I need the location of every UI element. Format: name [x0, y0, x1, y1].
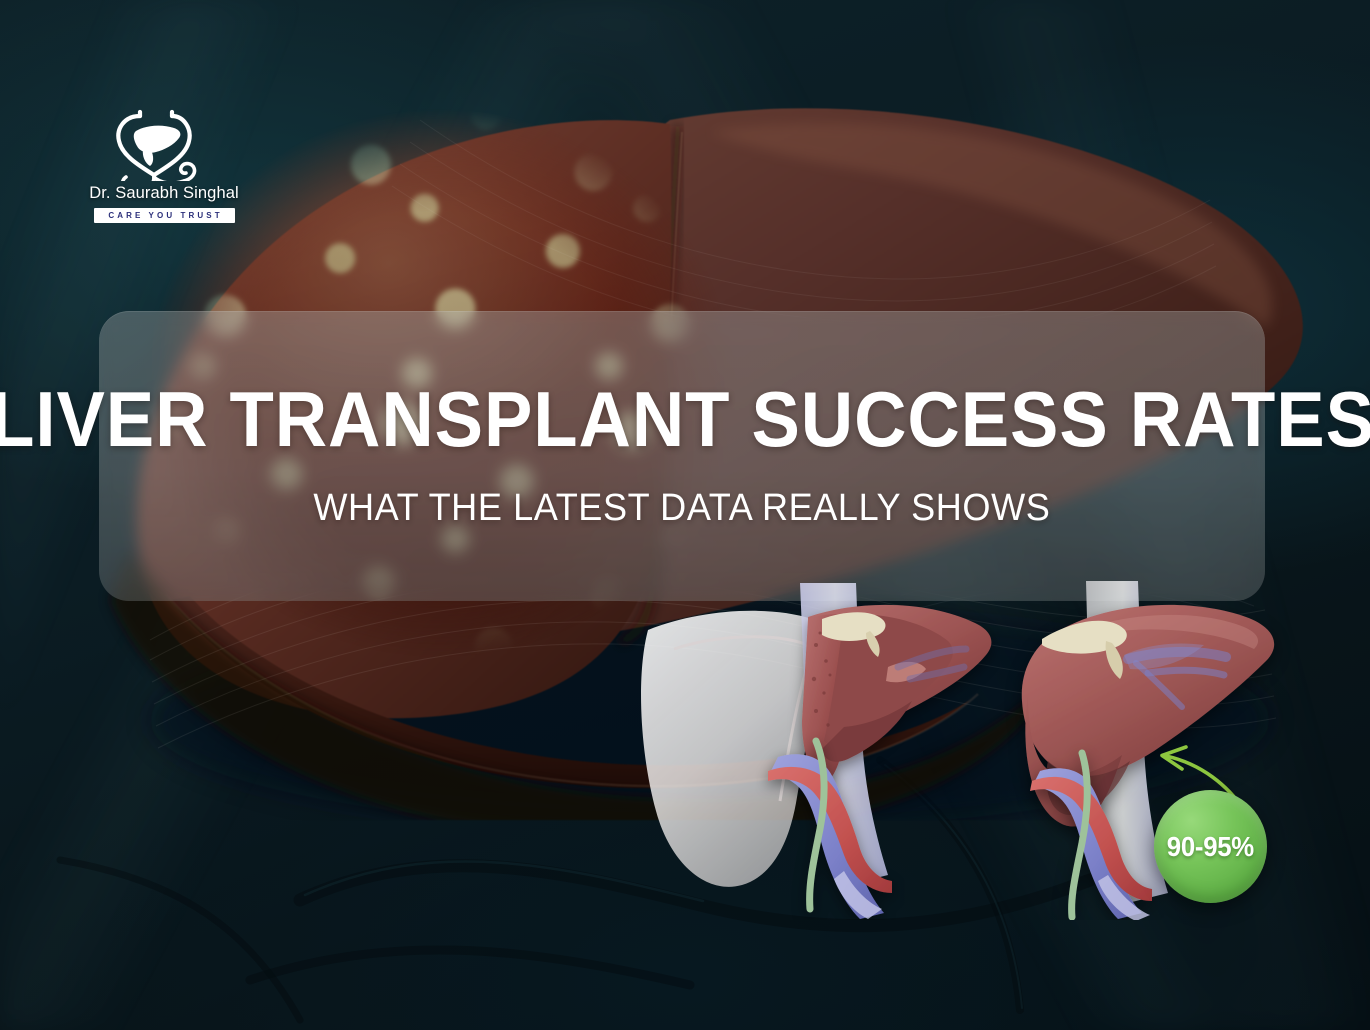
page-title: LIVER TRANSPLANT SUCCESS RATES [0, 382, 1370, 457]
title-block: LIVER TRANSPLANT SUCCESS RATES WHAT THE … [99, 311, 1265, 601]
success-rate-badge[interactable]: 90-95% [1154, 790, 1267, 903]
stethoscope-heart-liver-icon [88, 103, 240, 181]
success-rate-value: 90-95% [1167, 831, 1254, 863]
brand-tagline: CARE YOU TRUST [94, 208, 235, 223]
banner-root: Dr. Saurabh Singhal CARE YOU TRUST LIVER… [0, 0, 1370, 1030]
split-donor-liver-illustration [630, 575, 1000, 920]
brand-logo[interactable]: Dr. Saurabh Singhal CARE YOU TRUST [88, 103, 240, 223]
doctor-name: Dr. Saurabh Singhal [88, 184, 240, 203]
page-subtitle: WHAT THE LATEST DATA REALLY SHOWS [314, 487, 1051, 530]
